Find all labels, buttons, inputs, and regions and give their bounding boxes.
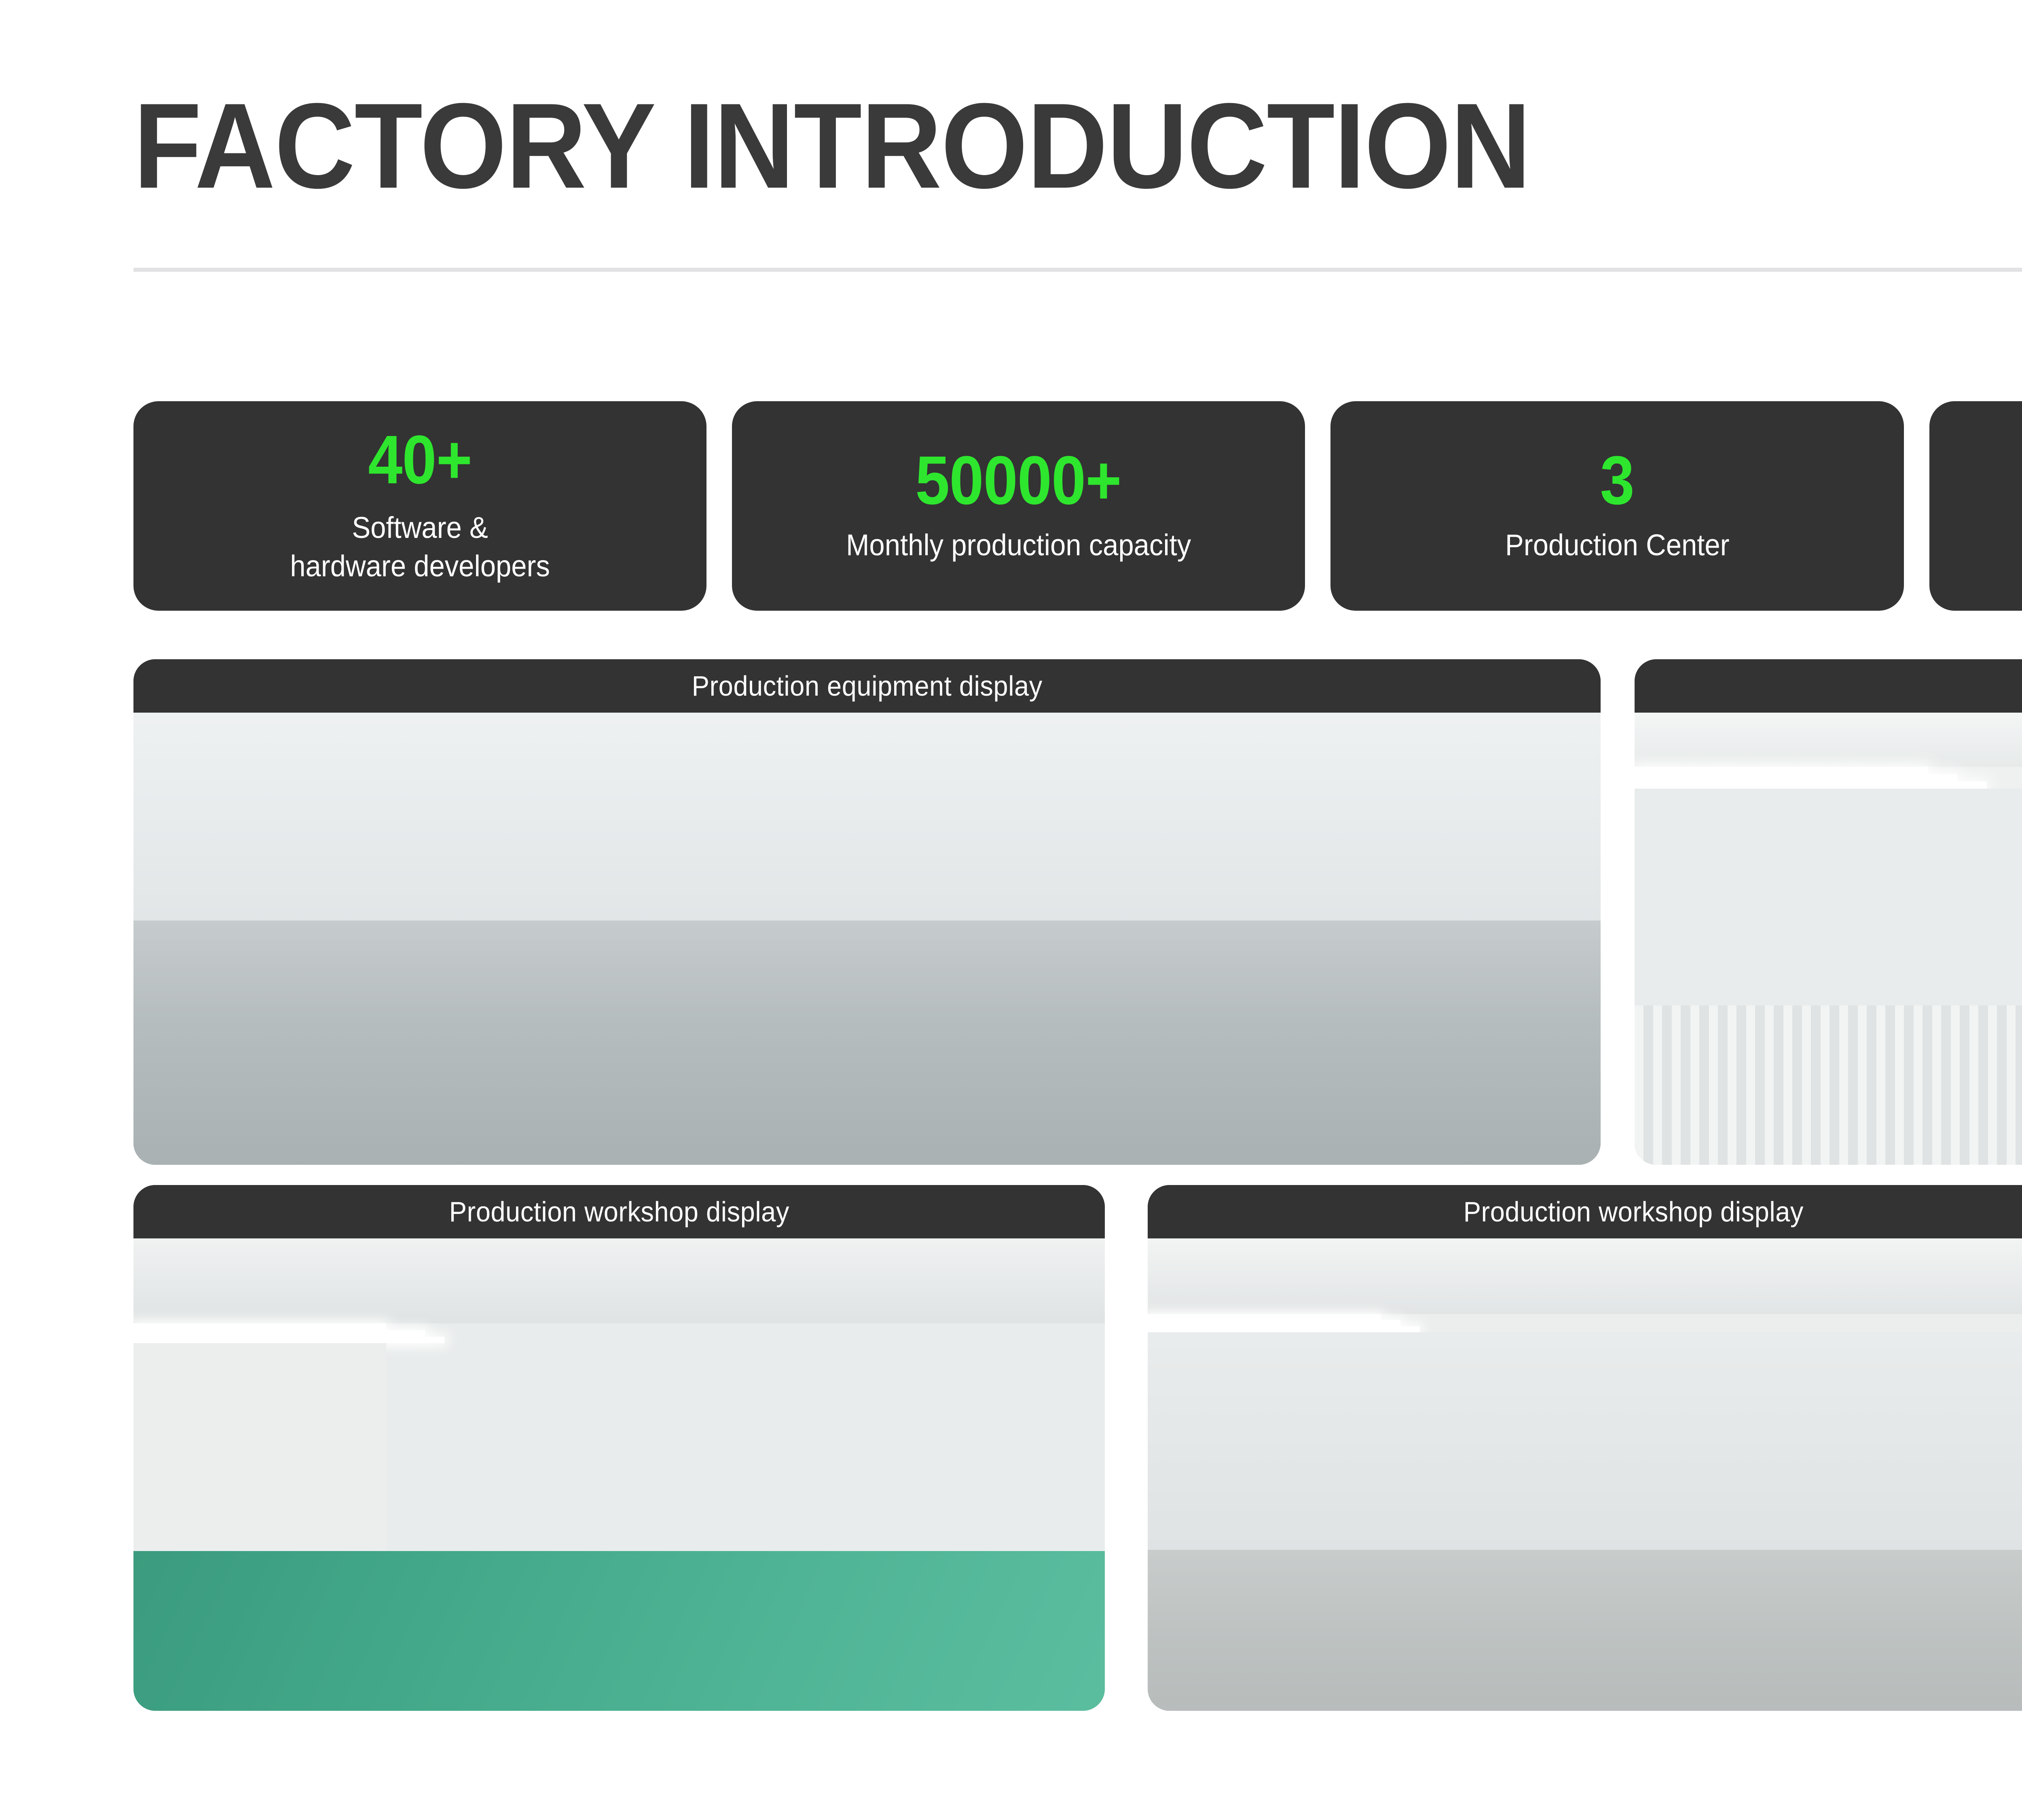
photo-caption: Production workshop display [133,1185,1105,1238]
stat-card-sample-cycle[interactable]: 72H Sample customization cycle [1929,401,2022,611]
page-title: FACTORY INTRODUCTION [133,85,1530,206]
photo-caption: Production workshop display [1148,1185,2022,1238]
stat-value: 3 [1600,446,1634,516]
photo-image-magazine-loader [1635,713,2022,1165]
stats-row: 40+ Software & hardware developers 50000… [133,401,2022,611]
photo-card-production-equipment-2[interactable]: Production equipment display [1635,659,2022,1165]
header-divider [133,268,2022,272]
slide-root: FACTORY INTRODUCTION BAJIE CHARGING 40+ … [0,0,2022,1820]
stat-value: 50000+ [916,446,1121,516]
photo-caption: Production equipment display [133,659,1601,713]
page-header: FACTORY INTRODUCTION BAJIE CHARGING [133,85,2022,275]
photo-image-smt-line: 长电 360 DESEN Classic 100B [133,713,1601,1165]
stat-label: Software & hardware developers [290,509,550,585]
photo-caption: Production equipment display [1635,659,2022,713]
stat-label: Monthly production capacity [846,526,1191,565]
stat-card-developers[interactable]: 40+ Software & hardware developers [133,401,706,611]
photo-card-production-workshop-1[interactable]: Production workshop display [133,1185,1105,1711]
photo-card-production-equipment-1[interactable]: Production equipment display 长电 360 DESE… [133,659,1601,1165]
photo-card-production-workshop-2[interactable]: Production workshop display [1148,1185,2022,1711]
photo-image-assembly-esd [133,1238,1105,1711]
stat-card-production-center[interactable]: 3 Production Center [1330,401,1904,611]
stat-label: Production Center [1505,526,1730,565]
stat-card-monthly-capacity[interactable]: 50000+ Monthly production capacity [732,401,1305,611]
photo-image-assembly-line [1148,1238,2022,1711]
stat-value: 40+ [368,425,472,495]
